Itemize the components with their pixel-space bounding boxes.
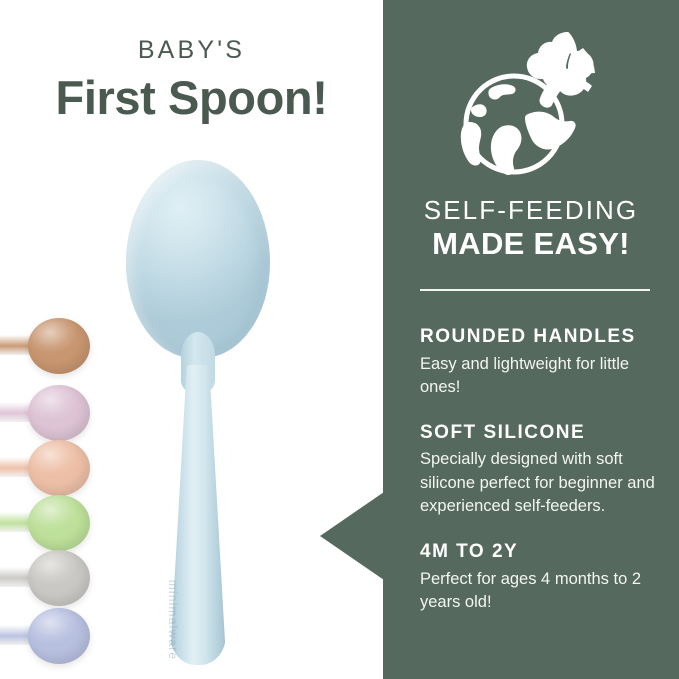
feature-item-age-range: 4M TO 2Y Perfect for ages 4 months to 2 … — [420, 541, 656, 615]
feature-list: ROUNDED HANDLES Easy and lightweight for… — [420, 326, 656, 614]
feature-title: ROUNDED HANDLES — [420, 326, 656, 349]
panel-title-top: SELF-FEEDING — [383, 196, 679, 225]
headline-block: BABY'S First Spoon! — [0, 38, 383, 123]
color-variant-spoon — [0, 608, 90, 664]
spoon-bowl — [28, 550, 90, 606]
left-product-panel: BABY'S First Spoon! minimalware — [0, 0, 383, 679]
color-variant-spoon — [0, 385, 90, 441]
spoon-bowl — [28, 385, 90, 441]
color-variant-spoon — [0, 318, 90, 374]
feature-body: Specially designed with soft silicone pe… — [420, 448, 656, 518]
spoon-bowl — [126, 160, 270, 358]
main-spoon-image: minimalware — [118, 160, 278, 670]
title-divider — [420, 289, 650, 291]
panel-title-bottom: MADE EASY! — [383, 227, 679, 262]
color-variant-spoons — [0, 300, 96, 679]
spoon-bowl — [28, 495, 90, 551]
product-infographic: BABY'S First Spoon! minimalware — [0, 0, 679, 679]
color-variant-spoon — [0, 440, 90, 496]
headline-kicker: BABY'S — [0, 38, 383, 63]
feature-item-soft-silicone: SOFT SILICONE Specially designed with so… — [420, 422, 656, 519]
spoon-bowl — [28, 608, 90, 664]
feature-item-rounded-handles: ROUNDED HANDLES Easy and lightweight for… — [420, 326, 656, 400]
globe-hand-icon — [383, 22, 679, 182]
feature-title: 4M TO 2Y — [420, 541, 656, 564]
spoon-bowl — [28, 318, 90, 374]
page-title: First Spoon! — [0, 74, 383, 123]
feature-body: Easy and lightweight for little ones! — [420, 353, 656, 400]
spoon-brand-emboss: minimalware — [146, 555, 180, 679]
color-variant-spoon — [0, 550, 90, 606]
feature-title: SOFT SILICONE — [420, 422, 656, 445]
panel-title-block: SELF-FEEDING MADE EASY! — [383, 196, 679, 262]
feature-body: Perfect for ages 4 months to 2 years old… — [420, 568, 656, 615]
color-variant-spoon — [0, 495, 90, 551]
spoon-bowl — [28, 440, 90, 496]
